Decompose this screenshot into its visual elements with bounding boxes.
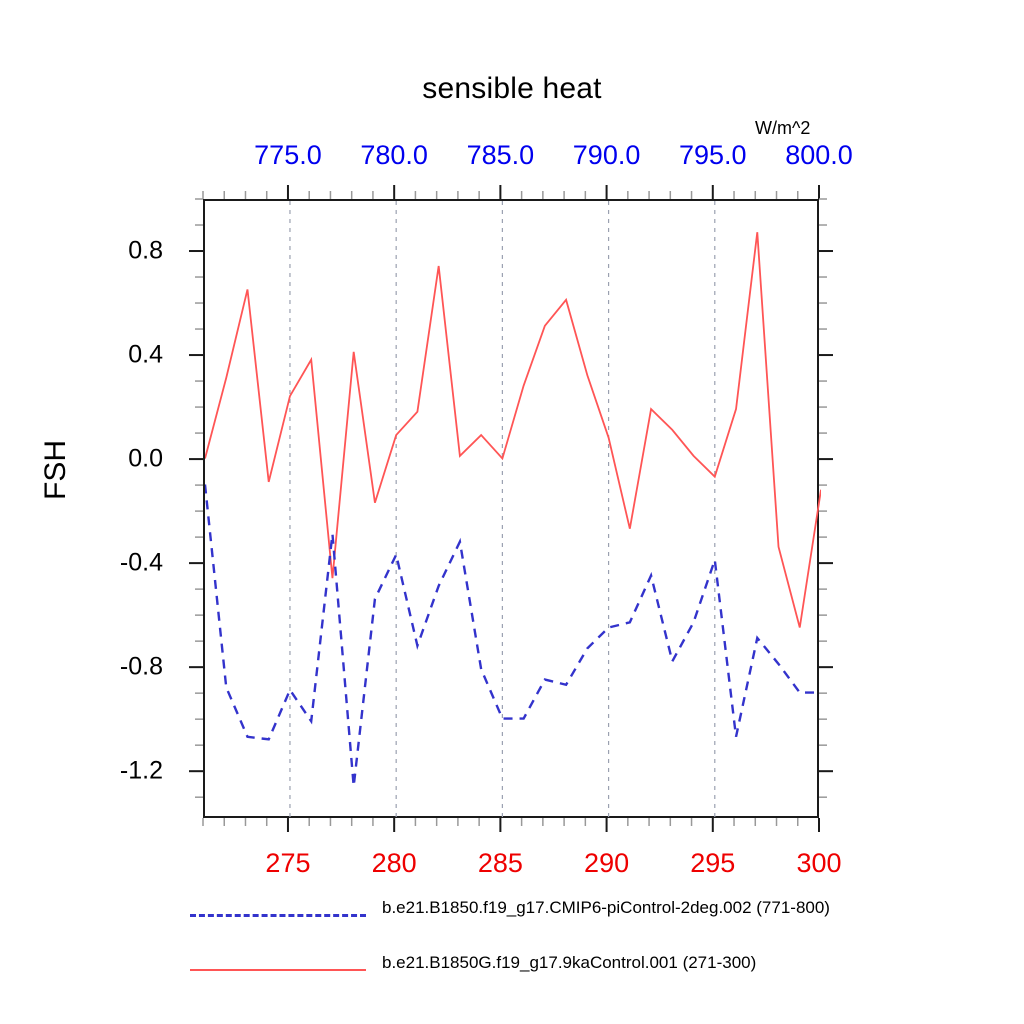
y-tick-label: -0.8 <box>43 653 163 682</box>
legend-item: b.e21.B1850.f19_g17.CMIP6-piControl-2deg… <box>190 900 890 930</box>
series-line <box>205 232 821 627</box>
legend-label: b.e21.B1850.f19_g17.CMIP6-piControl-2deg… <box>382 898 830 918</box>
legend-swatch <box>190 969 366 971</box>
legend-item: b.e21.B1850G.f19_g17.9kaControl.001 (271… <box>190 955 890 985</box>
plot-svg <box>205 201 821 820</box>
figure-root: sensible heat W/m^2 775.0780.0785.0790.0… <box>0 0 1024 1024</box>
series-line <box>205 484 821 786</box>
y-tick-label: 0.8 <box>43 237 163 266</box>
y-tick-label: -1.2 <box>43 757 163 786</box>
y-tick-label: 0.4 <box>43 341 163 370</box>
y-axis-title: FSH <box>39 440 73 500</box>
legend-swatch <box>190 914 366 917</box>
y-tick-label: -0.4 <box>43 549 163 578</box>
legend-label: b.e21.B1850G.f19_g17.9kaControl.001 (271… <box>382 953 756 973</box>
plot-area <box>203 199 819 818</box>
